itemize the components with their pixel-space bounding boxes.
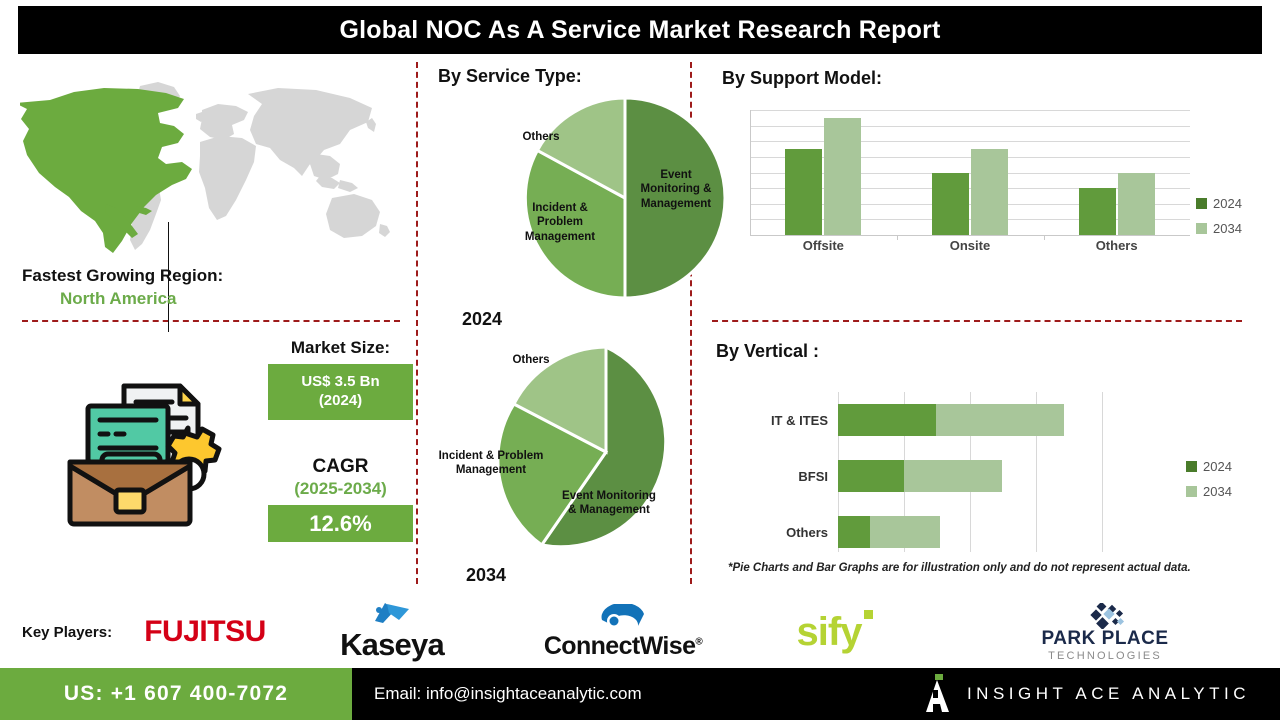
bar-others-2024: [1079, 188, 1116, 235]
cagr-value: 12.6%: [268, 505, 413, 543]
connectwise-logo: ConnectWise®: [528, 596, 718, 668]
pie-2024-year: 2024: [462, 309, 502, 330]
legend-swatch-2034-vertical: [1186, 486, 1197, 497]
kaseya-wordmark: Kaseya: [340, 627, 444, 663]
vertical-legend: 2024 2034: [1186, 459, 1232, 509]
legend-swatch-2024-vertical: [1186, 461, 1197, 472]
legend-item-2034-vertical: 2034: [1186, 484, 1232, 499]
vbar-others-2034: [870, 516, 940, 548]
insight-ace-a-mark-icon: [923, 674, 953, 714]
bar-group-offsite: [785, 110, 861, 235]
fastest-growing-region-block: Fastest Growing Region: North America: [22, 266, 412, 309]
vbar-label-others: Others: [786, 516, 838, 548]
vbar-bfsi-2024: [838, 460, 904, 492]
park-place-wordmark: PARK PLACE: [1041, 629, 1168, 648]
divider-horizontal-right: [712, 320, 1242, 322]
page-title: Global NOC As A Service Market Research …: [339, 16, 940, 45]
pie-chart-2034: Event Monitoring & Management Incident &…: [506, 343, 706, 561]
report-header: Global NOC As A Service Market Research …: [18, 6, 1262, 54]
region-value: North America: [22, 289, 412, 309]
vbar-others-2024: [838, 516, 870, 548]
legend-item-2024-vertical: 2024: [1186, 459, 1232, 474]
legend-swatch-2024: [1196, 198, 1207, 209]
legend-label-2024: 2024: [1213, 196, 1242, 211]
stats-block: Market Size: US$ 3.5 Bn (2024) CAGR (202…: [268, 338, 413, 542]
vbar-it-ites-2024: [838, 404, 936, 436]
world-map: [20, 72, 410, 262]
market-size-value: US$ 3.5 Bn (2024): [268, 364, 413, 420]
briefcase-documents-gear-icon: [58, 362, 258, 527]
vbar-label-bfsi: BFSI: [798, 460, 838, 492]
connectwise-wordmark: ConnectWise®: [544, 632, 702, 661]
brand-name: INSIGHT ACE ANALYTIC: [967, 684, 1250, 704]
pie-2034-year: 2034: [466, 565, 506, 586]
category-others: Others: [1062, 238, 1172, 253]
bar-offsite-2024: [785, 149, 822, 235]
category-offsite: Offsite: [768, 238, 878, 253]
vertical-chart: IT & ITES BFSI Others: [838, 392, 1138, 552]
footer-right: Email: info@insightaceanalytic.com INSIG…: [352, 668, 1280, 720]
divider-vertical-left: [416, 62, 418, 584]
fujitsu-logo: FUJITSU: [140, 596, 270, 668]
region-label: Fastest Growing Region:: [22, 266, 412, 286]
sify-logo: sify: [770, 596, 900, 668]
vbar-row-bfsi: BFSI: [838, 460, 1002, 492]
kaseya-mark-icon: [369, 601, 415, 627]
kaseya-logo: Kaseya: [322, 596, 462, 668]
vbar-row-others: Others: [838, 516, 940, 548]
bar-offsite-2034: [824, 118, 861, 235]
chart-footnote: *Pie Charts and Bar Graphs are for illus…: [728, 562, 1191, 574]
bar-group-onsite: [932, 110, 1008, 235]
bar-onsite-2024: [932, 173, 969, 236]
vbar-label-it-ites: IT & ITES: [771, 404, 838, 436]
legend-label-2024-vertical: 2024: [1203, 459, 1232, 474]
sify-dot-icon: [864, 610, 873, 619]
key-players-label: Key Players:: [22, 624, 112, 641]
market-size-line2: (2024): [274, 392, 407, 411]
cagr-range: (2025-2034): [268, 479, 413, 499]
vbar-bfsi-2034: [904, 460, 1002, 492]
park-place-logo: PARK PLACE TECHNOLOGIES: [1020, 596, 1190, 668]
service-type-heading: By Service Type:: [438, 66, 582, 87]
legend-label-2034-vertical: 2034: [1203, 484, 1232, 499]
pie-chart-2024: Event Monitoring & Management Incident &…: [520, 93, 730, 303]
support-model-categories: Offsite Onsite Others: [750, 238, 1190, 253]
support-model-chart: [750, 110, 1190, 235]
bar-group-others: [1079, 110, 1155, 235]
footer-phone[interactable]: US: +1 607 400-7072: [0, 668, 352, 720]
support-model-legend: 2024 2034: [1196, 196, 1242, 246]
cagr-title: CAGR: [268, 456, 413, 478]
bar-onsite-2034: [971, 149, 1008, 235]
vbar-it-ites-2034: [936, 404, 1064, 436]
brand-block: INSIGHT ACE ANALYTIC: [923, 674, 1280, 714]
legend-swatch-2034: [1196, 223, 1207, 234]
vertical-heading: By Vertical :: [716, 341, 819, 362]
divider-horizontal-left: [22, 320, 400, 322]
bar-others-2034: [1118, 173, 1155, 236]
legend-item-2024: 2024: [1196, 196, 1242, 211]
sify-wordmark: sify: [797, 610, 862, 655]
fujitsu-wordmark: FUJITSU: [144, 615, 266, 649]
registered-mark: ®: [695, 636, 702, 647]
footer-email[interactable]: Email: info@insightaceanalytic.com: [352, 684, 642, 704]
market-size-line1: US$ 3.5 Bn: [274, 373, 407, 392]
key-players-strip: Key Players: FUJITSU Kaseya ConnectWise®…: [0, 596, 1280, 668]
category-onsite: Onsite: [915, 238, 1025, 253]
park-place-subtext: TECHNOLOGIES: [1048, 650, 1162, 662]
market-size-title: Market Size:: [268, 338, 413, 358]
footer-bar: US: +1 607 400-7072 Email: info@insighta…: [0, 668, 1280, 720]
vbar-row-it-ites: IT & ITES: [838, 404, 1064, 436]
connectwise-mark-icon: [598, 604, 648, 632]
legend-item-2034: 2034: [1196, 221, 1242, 236]
park-place-mark-icon: [1076, 603, 1134, 629]
support-model-heading: By Support Model:: [722, 68, 882, 89]
legend-label-2034: 2034: [1213, 221, 1242, 236]
